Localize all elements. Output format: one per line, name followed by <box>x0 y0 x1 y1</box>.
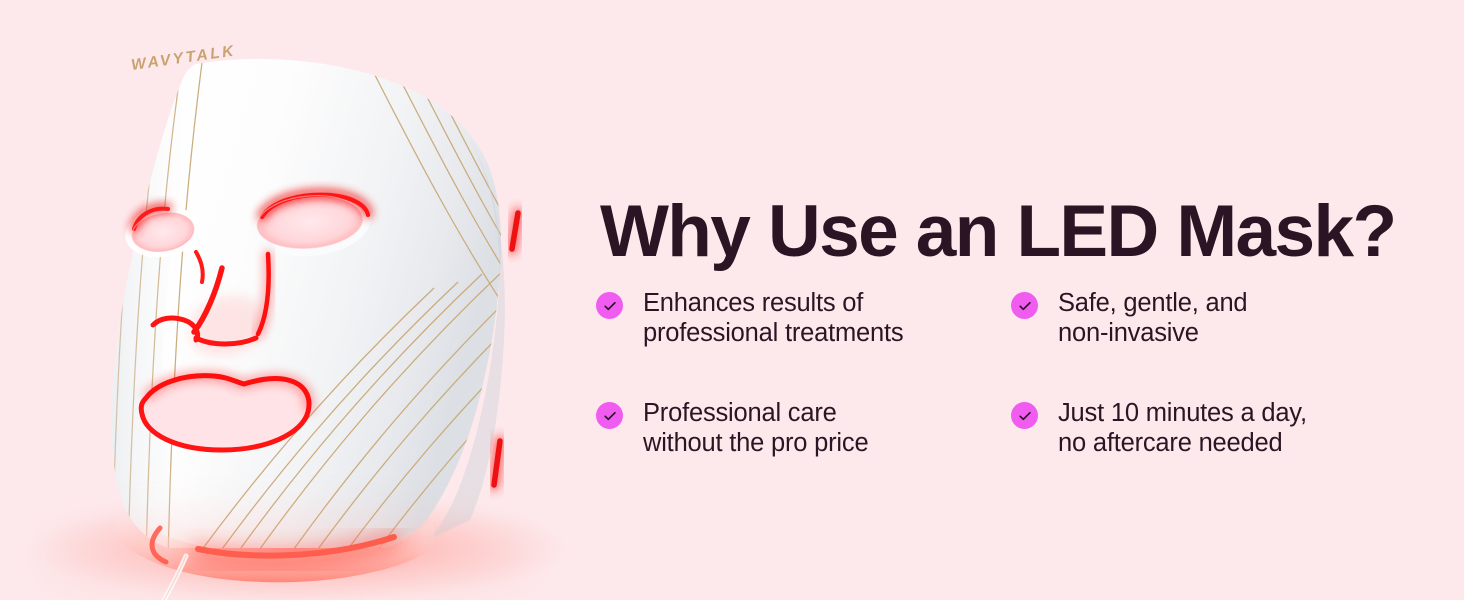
check-icon <box>1011 402 1038 429</box>
benefit-item-enhances-results: Enhances results of professional treatme… <box>596 288 1011 398</box>
benefit-item-safe-gentle: Safe, gentle, and non-invasive <box>1011 288 1426 398</box>
check-icon <box>1011 292 1038 319</box>
benefit-item-professional-care: Professional care without the pro price <box>596 398 1011 508</box>
benefit-item-ten-minutes: Just 10 minutes a day, no aftercare need… <box>1011 398 1426 508</box>
benefit-label: Enhances results of professional treatme… <box>643 288 903 348</box>
check-icon <box>596 402 623 429</box>
mask-led-strip-lower <box>494 440 500 486</box>
check-icon <box>596 292 623 319</box>
page-title: Why Use an LED Mask? <box>600 195 1396 268</box>
benefits-grid: Enhances results of professional treatme… <box>596 288 1436 508</box>
mask-floor-bloom <box>40 516 540 596</box>
product-image-led-mask: WAVYTALK <box>0 0 580 600</box>
benefit-label: Professional care without the pro price <box>643 398 868 458</box>
benefit-label: Safe, gentle, and non-invasive <box>1058 288 1247 348</box>
benefit-label: Just 10 minutes a day, no aftercare need… <box>1058 398 1307 458</box>
mask-mouth-cutout <box>141 376 309 450</box>
copy-column: Why Use an LED Mask? Enhances results of… <box>596 0 1436 600</box>
led-mask-promo-banner: WAVYTALK <box>0 0 1464 600</box>
mask-led-strip-upper <box>512 212 518 250</box>
